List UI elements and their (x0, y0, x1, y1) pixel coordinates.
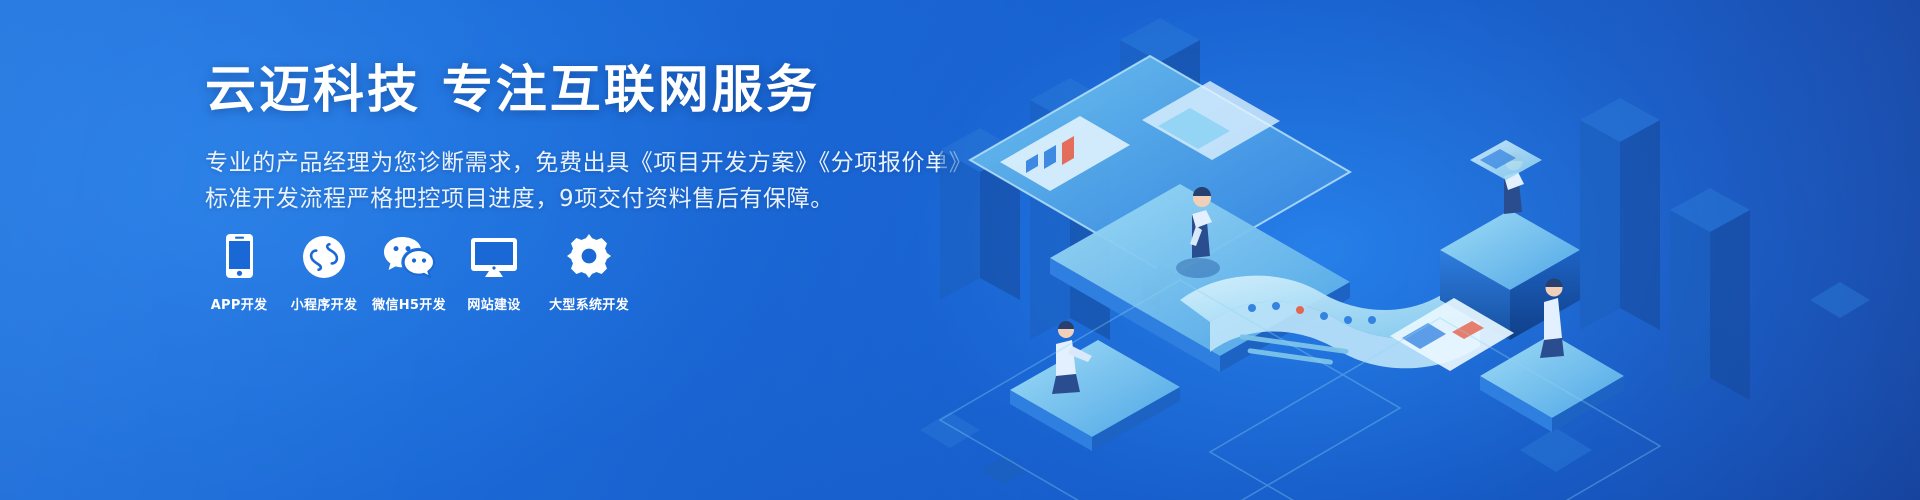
banner-text-block: 云迈科技 专注互联网服务 专业的产品经理为您诊断需求，免费出具《项目开发方案》《… (205, 62, 965, 217)
service-item-mini-program[interactable]: 小程序开发 (288, 232, 360, 313)
illustration-svg (880, 0, 1920, 500)
banner-subtitle-line-2: 标准开发流程严格把控项目进度，9项交付资料售后有保障。 (205, 181, 965, 217)
banner-subtitle-line-1: 专业的产品经理为您诊断需求，免费出具《项目开发方案》《分项报价单》 (205, 145, 965, 181)
mini-program-icon (303, 232, 345, 278)
monitor-icon (471, 232, 517, 278)
gear-icon (567, 232, 611, 278)
service-item-website[interactable]: 网站建设 (458, 232, 530, 313)
service-item-large-system[interactable]: 大型系统开发 (543, 232, 635, 313)
banner-title: 云迈科技 专注互联网服务 (205, 62, 965, 121)
floating-data-card (1470, 140, 1542, 180)
mobile-phone-icon (226, 232, 253, 278)
illustration-isometric-tech (880, 0, 1920, 500)
banner-subtitle-block: 专业的产品经理为您诊断需求，免费出具《项目开发方案》《分项报价单》 标准开发流程… (205, 145, 965, 217)
service-list: APP开发 小程序开发 (203, 232, 648, 313)
platform-tile-lower-left (1010, 340, 1180, 451)
service-item-app[interactable]: APP开发 (203, 232, 275, 313)
hero-banner: 云迈科技 专注互联网服务 专业的产品经理为您诊断需求，免费出具《项目开发方案》《… (0, 0, 1920, 500)
service-label: 网站建设 (467, 294, 520, 313)
service-label: APP开发 (211, 294, 268, 313)
wechat-icon (383, 232, 435, 278)
service-label: 大型系统开发 (549, 294, 629, 313)
service-label: 微信H5开发 (372, 294, 446, 313)
service-label: 小程序开发 (291, 294, 358, 313)
service-item-wechat-h5[interactable]: 微信H5开发 (373, 232, 445, 313)
